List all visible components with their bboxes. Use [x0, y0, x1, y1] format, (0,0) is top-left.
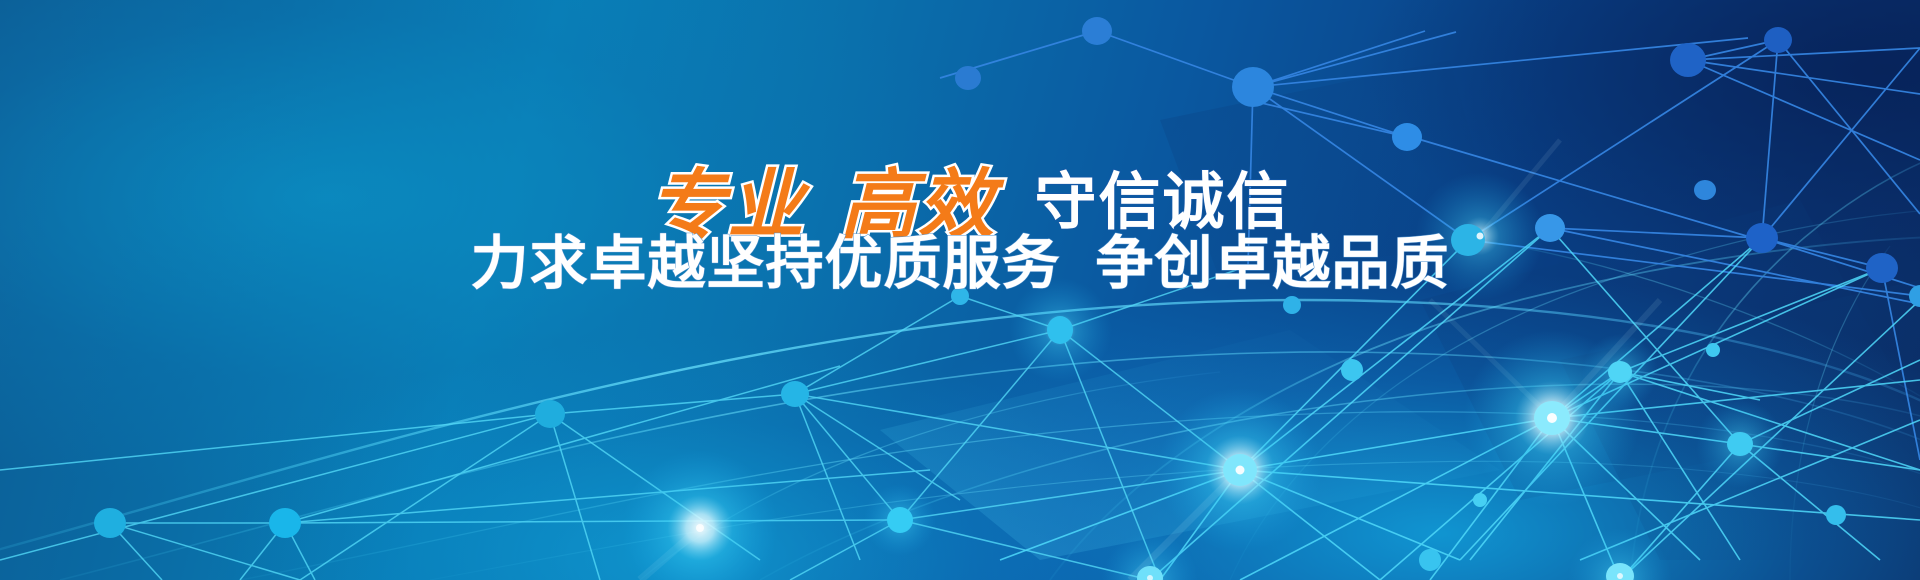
network-constellation-graphic — [0, 0, 1920, 580]
hero-banner: 专业 高效 守信诚信 力求卓越坚持优质服务 争创卓越品质 — [0, 0, 1920, 580]
